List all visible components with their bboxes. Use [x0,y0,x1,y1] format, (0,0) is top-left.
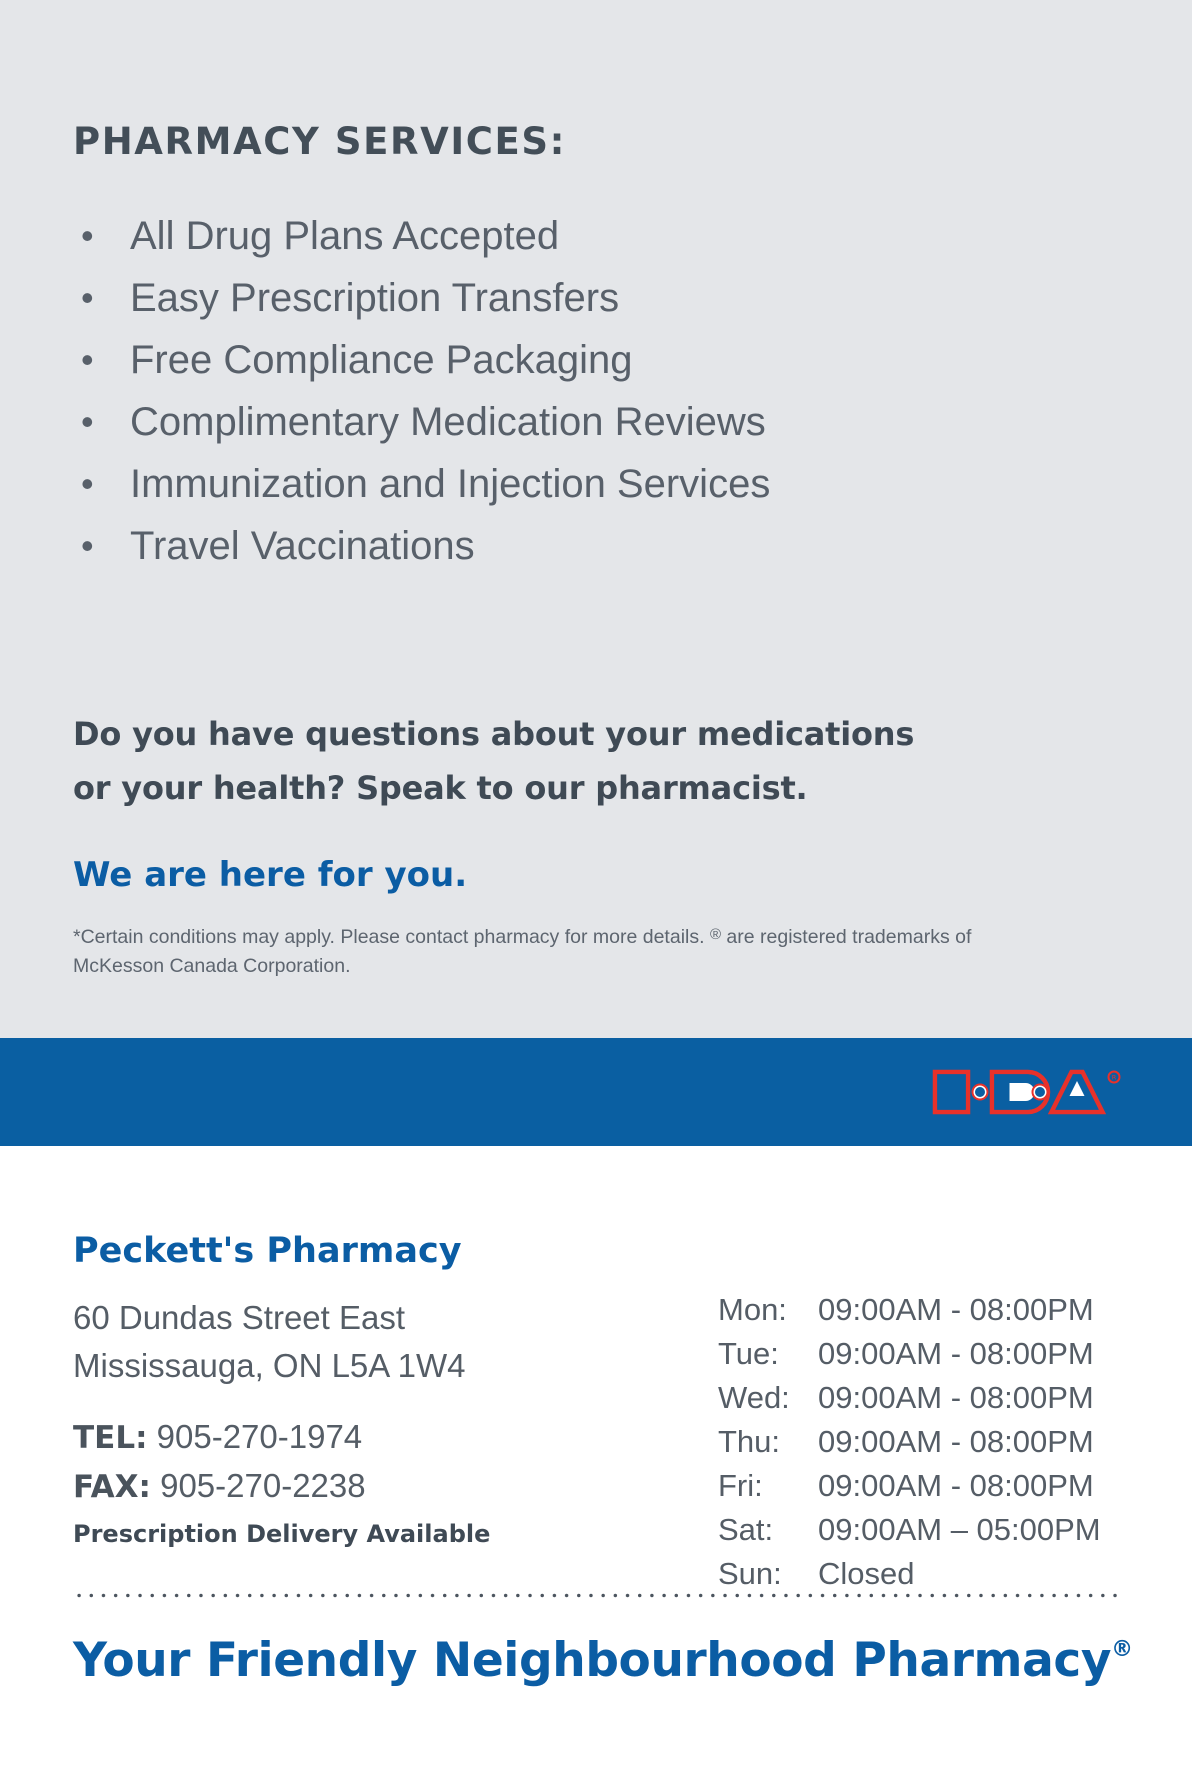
fax-row: FAX: 905-270-2238 [73,1462,366,1511]
question-block: Do you have questions about your medicat… [73,707,914,815]
address-line-1: 60 Dundas Street East [73,1294,466,1342]
question-line-1: Do you have questions about your medicat… [73,707,914,761]
services-list: • All Drug Plans Accepted • Easy Prescri… [73,205,770,577]
list-item: • Easy Prescription Transfers [73,267,770,329]
table-row: Tue: 09:00AM - 08:00PM [718,1332,1101,1376]
brand-band: R [0,1038,1192,1146]
list-item: • Immunization and Injection Services [73,453,770,515]
hours-day: Sun: [718,1552,818,1596]
bullet-icon: • [81,391,94,453]
table-row: Mon: 09:00AM - 08:00PM [718,1288,1101,1332]
registered-trademark-icon: ® [710,926,721,943]
service-label: All Drug Plans Accepted [130,214,559,258]
hours-day: Sat: [718,1508,818,1552]
hours-time: 09:00AM – 05:00PM [818,1508,1101,1552]
hours-day: Thu: [718,1420,818,1464]
table-row: Wed: 09:00AM - 08:00PM [718,1376,1101,1420]
fax-value: 905-270-2238 [160,1467,366,1504]
store-address: 60 Dundas Street East Mississauga, ON L5… [73,1294,466,1390]
registered-trademark-icon: ® [1111,1637,1133,1662]
bullet-icon: • [81,453,94,515]
hours-time: 09:00AM - 08:00PM [818,1464,1101,1508]
table-row: Sat: 09:00AM – 05:00PM [718,1508,1101,1552]
service-label: Easy Prescription Transfers [130,276,619,320]
telephone-row: TEL: 905-270-1974 [73,1413,366,1462]
hours-time: 09:00AM - 08:00PM [818,1376,1101,1420]
telephone-value: 905-270-1974 [157,1418,363,1455]
service-label: Travel Vaccinations [130,524,475,568]
hours-day: Wed: [718,1376,818,1420]
pharmacy-flyer: PHARMACY SERVICES: • All Drug Plans Acce… [0,0,1192,1785]
list-item: • Free Compliance Packaging [73,329,770,391]
bullet-icon: • [81,267,94,329]
list-item: • All Drug Plans Accepted [73,205,770,267]
service-label: Complimentary Medication Reviews [130,400,766,444]
table-row: Fri: 09:00AM - 08:00PM [718,1464,1101,1508]
hours-day: Fri: [718,1464,818,1508]
store-footer: Peckett's Pharmacy 60 Dundas Street East… [0,1146,1192,1785]
footer-tagline-text: Your Friendly Neighbourhood Pharmacy [73,1633,1111,1688]
service-label: Free Compliance Packaging [130,338,632,382]
store-name: Peckett's Pharmacy [73,1231,462,1271]
svg-text:R: R [1112,1074,1117,1082]
store-hours-table: Mon: 09:00AM - 08:00PM Tue: 09:00AM - 08… [718,1288,1101,1596]
table-row: Thu: 09:00AM - 08:00PM [718,1420,1101,1464]
here-for-you-tagline: We are here for you. [73,855,467,895]
question-line-2: or your health? Speak to our pharmacist. [73,761,914,815]
service-label: Immunization and Injection Services [130,462,770,506]
list-item: • Travel Vaccinations [73,515,770,577]
fax-label: FAX: [73,1469,151,1505]
page-title: PHARMACY SERVICES: [73,120,566,163]
store-contact: TEL: 905-270-1974 FAX: 905-270-2238 [73,1413,366,1511]
services-panel: PHARMACY SERVICES: • All Drug Plans Acce… [0,0,1192,1038]
disclaimer-text: *Certain conditions may apply. Please co… [73,920,1063,981]
list-item: • Complimentary Medication Reviews [73,391,770,453]
table-row: Sun: Closed [718,1552,1101,1596]
hours-time: 09:00AM - 08:00PM [818,1332,1101,1376]
hours-day: Tue: [718,1332,818,1376]
bullet-icon: • [81,205,94,267]
hours-time: 09:00AM - 08:00PM [818,1288,1101,1332]
footer-tagline: Your Friendly Neighbourhood Pharmacy® [73,1633,1133,1688]
delivery-note: Prescription Delivery Available [73,1520,490,1548]
bullet-icon: • [81,515,94,577]
dotted-divider [73,1593,1119,1598]
disclaimer-part-1: *Certain conditions may apply. Please co… [73,926,710,948]
hours-day: Mon: [718,1288,818,1332]
ida-logo: R [928,1057,1124,1127]
address-line-2: Mississauga, ON L5A 1W4 [73,1342,466,1390]
hours-time: 09:00AM - 08:00PM [818,1420,1101,1464]
telephone-label: TEL: [73,1420,147,1456]
hours-time: Closed [818,1552,1101,1596]
bullet-icon: • [81,329,94,391]
